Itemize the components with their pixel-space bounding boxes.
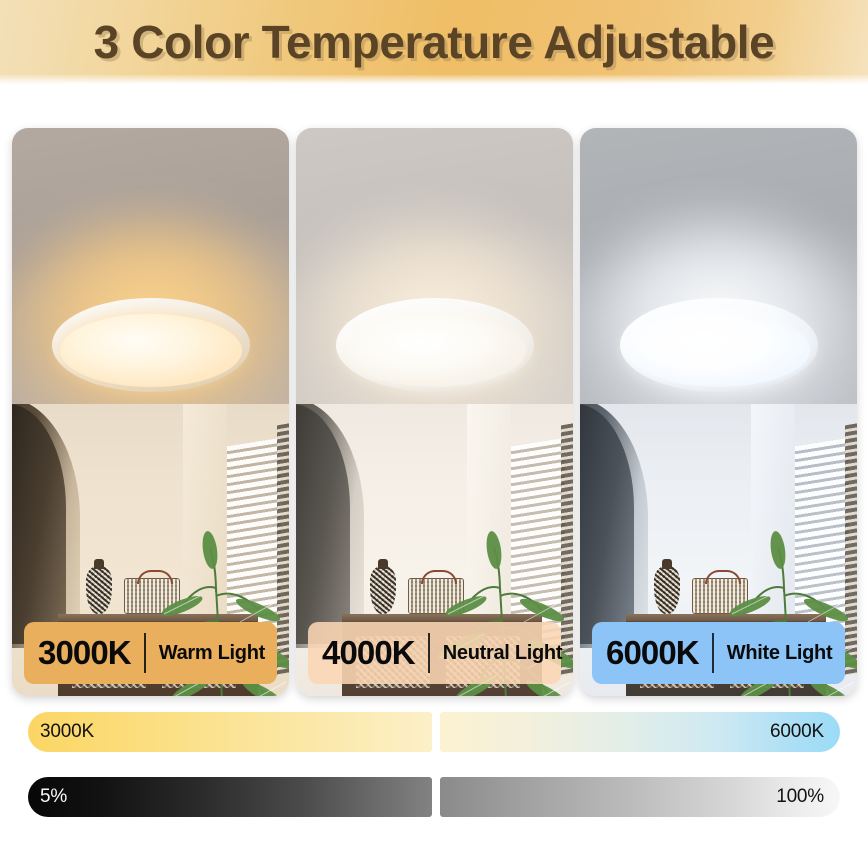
brightness-max-label: 100% <box>776 786 824 808</box>
lamp-lens <box>60 314 242 387</box>
arch-inner-shadow <box>12 404 66 644</box>
cct-bar-right-segment[interactable]: 6000K <box>440 712 840 752</box>
label-warm-light: 3000K Warm Light <box>24 622 277 684</box>
panel-warm-light[interactable]: 3000K Warm Light <box>12 128 289 696</box>
arch-inner-shadow <box>580 404 634 644</box>
brightness-bar-right-segment[interactable]: 100% <box>440 777 840 817</box>
label-neutral-light: 4000K Neutral Light <box>308 622 561 684</box>
label-divider <box>144 633 146 673</box>
ceiling-lamp-icon <box>620 298 818 392</box>
kelvin-value: 3000K <box>38 634 131 672</box>
woven-vase <box>370 566 396 614</box>
arch-inner-shadow <box>296 404 350 644</box>
arch-opening <box>12 404 80 648</box>
kelvin-value: 6000K <box>606 634 699 672</box>
ceiling-lamp-icon <box>52 298 250 392</box>
light-name: White Light <box>727 642 833 665</box>
lamp-lens <box>628 314 810 387</box>
brightness-min-label: 5% <box>40 786 67 808</box>
panel-neutral-light[interactable]: 4000K Neutral Light <box>296 128 573 696</box>
page-title: 3 Color Temperature Adjustable <box>94 15 775 69</box>
light-name: Warm Light <box>159 642 265 665</box>
arch-opening <box>296 404 364 648</box>
panel-white-light[interactable]: 6000K White Light <box>580 128 857 696</box>
cct-max-label: 6000K <box>770 721 824 743</box>
scene-neutral <box>296 128 573 696</box>
cct-min-label: 3000K <box>40 721 94 743</box>
woven-vase <box>86 566 112 614</box>
brightness-bar[interactable]: 5% 100% <box>0 777 868 817</box>
color-temperature-panel-row: 3000K Warm Light <box>0 118 868 696</box>
label-divider <box>712 633 714 673</box>
scene-white <box>580 128 857 696</box>
label-divider <box>428 633 430 673</box>
lamp-lens <box>344 314 526 387</box>
light-name: Neutral Light <box>443 642 562 665</box>
header-banner: 3 Color Temperature Adjustable <box>0 0 868 84</box>
label-white-light: 6000K White Light <box>592 622 845 684</box>
cct-bar-left-segment[interactable]: 3000K <box>28 712 432 752</box>
ceiling-lamp-icon <box>336 298 534 392</box>
gradient-bars: 3000K 6000K 5% 100% <box>0 712 868 842</box>
woven-vase <box>654 566 680 614</box>
color-temperature-bar[interactable]: 3000K 6000K <box>0 712 868 752</box>
kelvin-value: 4000K <box>322 634 415 672</box>
arch-opening <box>580 404 648 648</box>
scene-warm <box>12 128 289 696</box>
brightness-bar-left-segment[interactable]: 5% <box>28 777 432 817</box>
